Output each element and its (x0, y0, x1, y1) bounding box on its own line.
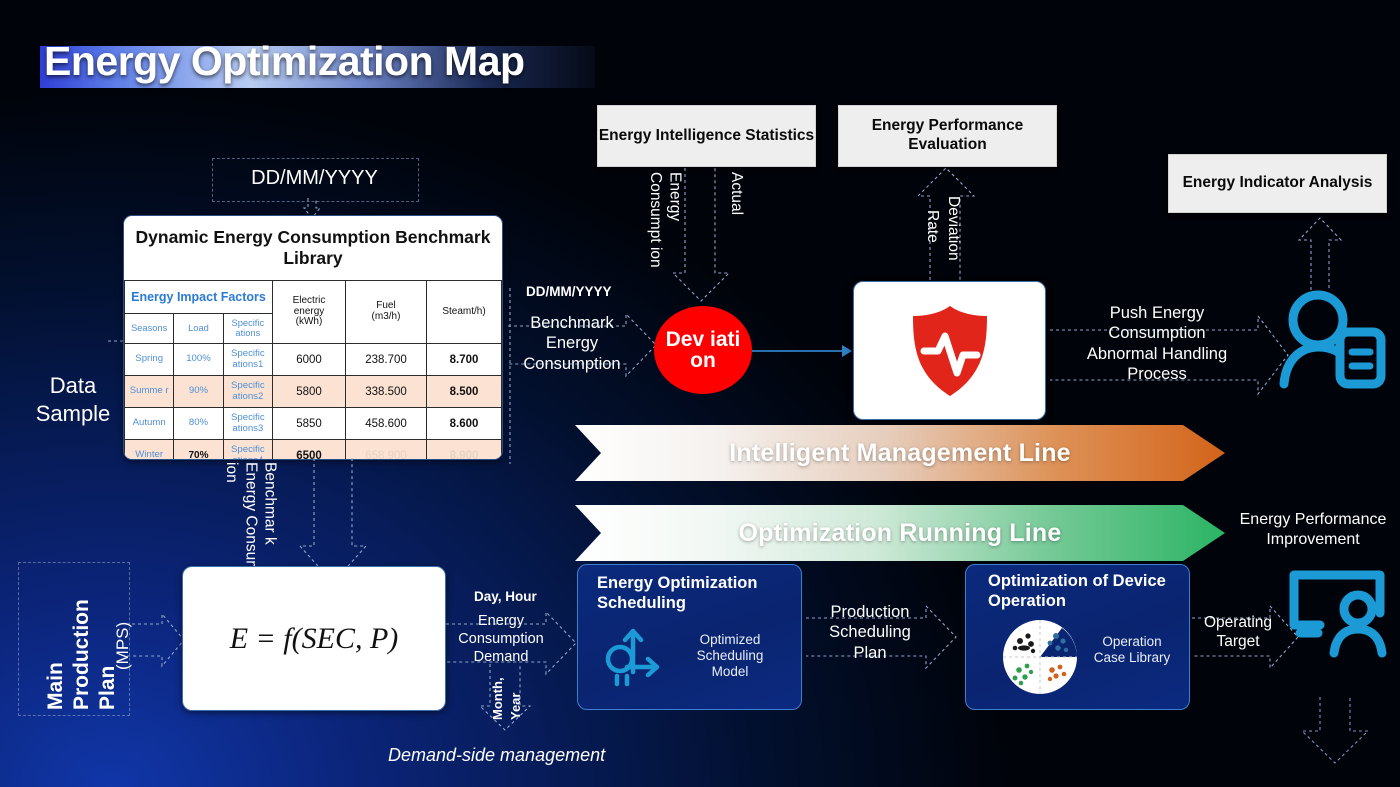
person-report-icon (1278, 292, 1386, 388)
optimization-running-line-banner: Optimization Running Line (575, 505, 1225, 561)
cell-steam: 8.700 (427, 344, 502, 376)
col-fuel: Fuel (m3/h) (346, 281, 427, 344)
cell-fuel: 658.900 (346, 440, 427, 461)
deviation-badge[interactable]: Dev iati on (654, 306, 752, 394)
cell-fuel: 338.500 (346, 376, 427, 408)
col-load: Load (174, 314, 223, 344)
monitor-person-icon (1286, 567, 1388, 657)
cell-steam: 8.900 (427, 440, 502, 461)
cell-spec: Specific ations3 (223, 408, 272, 440)
cell-electric: 5800 (273, 376, 346, 408)
mps-label: (MPS) (112, 614, 133, 670)
benchmark-library-title: Dynamic Energy Consumption Benchmark Lib… (124, 216, 502, 280)
data-sample-label: Data Sample (18, 372, 128, 427)
operation-case-library-label: Operation Case Library (1077, 634, 1187, 666)
energy-impact-factors-header: Energy Impact Factors (125, 281, 273, 314)
cell-load: 100% (174, 344, 223, 376)
intelligent-management-line-banner: Intelligent Management Line (575, 425, 1225, 481)
table-row: Winter 70% Specific ations4 6500 658.900… (125, 440, 502, 461)
demand-side-management-label: Demand-side management (388, 744, 605, 766)
cell-steam: 8.600 (427, 408, 502, 440)
production-scheduling-plan-label: Production Scheduling Plan (812, 602, 928, 663)
benchmark-table: Energy Impact Factors Electric energy (k… (124, 280, 502, 460)
date-token-2: DD/MM/YYYY (526, 284, 612, 300)
table-group-header-row: Energy Impact Factors Electric energy (k… (125, 281, 502, 314)
operating-target-label: Operating Target (1196, 613, 1280, 651)
cell-season: Summe r (125, 376, 174, 408)
table-row: Summe r 90% Specific ations2 5800 338.50… (125, 376, 502, 408)
energy-intelligence-statistics-box[interactable]: Energy Intelligence Statistics (597, 105, 816, 167)
cell-steam: 8.500 (427, 376, 502, 408)
download-arrow-icon (1296, 697, 1374, 769)
cell-electric: 6500 (273, 440, 346, 461)
energy-performance-evaluation-box[interactable]: Energy Performance Evaluation (838, 105, 1057, 167)
col-steam: Steamt/h) (427, 281, 502, 344)
slide-canvas: Energy Optimization Map Data Sample DD/M… (0, 0, 1400, 787)
cell-spec: Specific ations2 (223, 376, 272, 408)
actual-vertical-label: Actual (727, 172, 746, 290)
energy-formula: E = f(SEC, P) (230, 622, 399, 656)
mps-arrow (126, 612, 186, 668)
cell-fuel: 238.700 (346, 344, 427, 376)
optimized-scheduling-icon (603, 626, 665, 686)
table-row: Spring 100% Specific ations1 6000 238.70… (125, 344, 502, 376)
cell-season: Spring (125, 344, 174, 376)
deviation-to-shield-arrow (752, 341, 854, 361)
cell-fuel: 458.600 (346, 408, 427, 440)
rate-vertical-label: Rate (923, 210, 942, 280)
table-row: Autumn 80% Specific ations3 5850 458.600… (125, 408, 502, 440)
operation-case-pie-icon (1000, 617, 1080, 697)
cell-season: Autumn (125, 408, 174, 440)
optimization-device-operation-title: Optimization of Device Operation (988, 572, 1183, 612)
cell-load: 90% (174, 376, 223, 408)
cell-season: Winter (125, 440, 174, 461)
benchmark-energy-consumption-label: Benchmark Energy Consumption (512, 313, 632, 374)
optimized-scheduling-model-label: Optimized Scheduling Model (676, 632, 784, 681)
cell-spec: Specific ations1 (223, 344, 272, 376)
cell-spec: Specific ations4 (223, 440, 272, 461)
col-seasons: Seasons (125, 314, 174, 344)
cell-electric: 6000 (273, 344, 346, 376)
page-title: Energy Optimization Map (44, 38, 525, 85)
indicator-up-arrow (1297, 218, 1343, 290)
cell-load: 80% (174, 408, 223, 440)
energy-consumption-demand-label: Energy Consumption Demand (455, 612, 547, 666)
energy-consumption-vertical-label: Energy Consumpt ion (646, 172, 684, 290)
col-electric-energy: Electric energy (kWh) (273, 281, 346, 344)
energy-optimization-scheduling-title: Energy Optimization Scheduling (597, 574, 777, 614)
push-energy-label: Push Energy Consumption Abnormal Handlin… (1062, 303, 1252, 385)
cell-load: 70% (174, 440, 223, 461)
col-specifications: Specific ations (223, 314, 272, 344)
abnormal-monitoring-card[interactable] (853, 281, 1046, 420)
energy-indicator-analysis-box[interactable]: Energy Indicator Analysis (1168, 154, 1387, 213)
main-production-plan-label: Main Production Plan (43, 566, 121, 710)
demand-side-down-arrow (480, 664, 540, 732)
energy-performance-improvement-label: Energy Performance Improvement (1228, 510, 1398, 550)
energy-formula-card: E = f(SEC, P) (182, 566, 446, 711)
benchmark-library-card: Dynamic Energy Consumption Benchmark Lib… (123, 215, 503, 460)
cell-electric: 5850 (273, 408, 346, 440)
day-hour-label: Day, Hour (474, 589, 537, 605)
shield-pulse-icon (907, 303, 993, 399)
